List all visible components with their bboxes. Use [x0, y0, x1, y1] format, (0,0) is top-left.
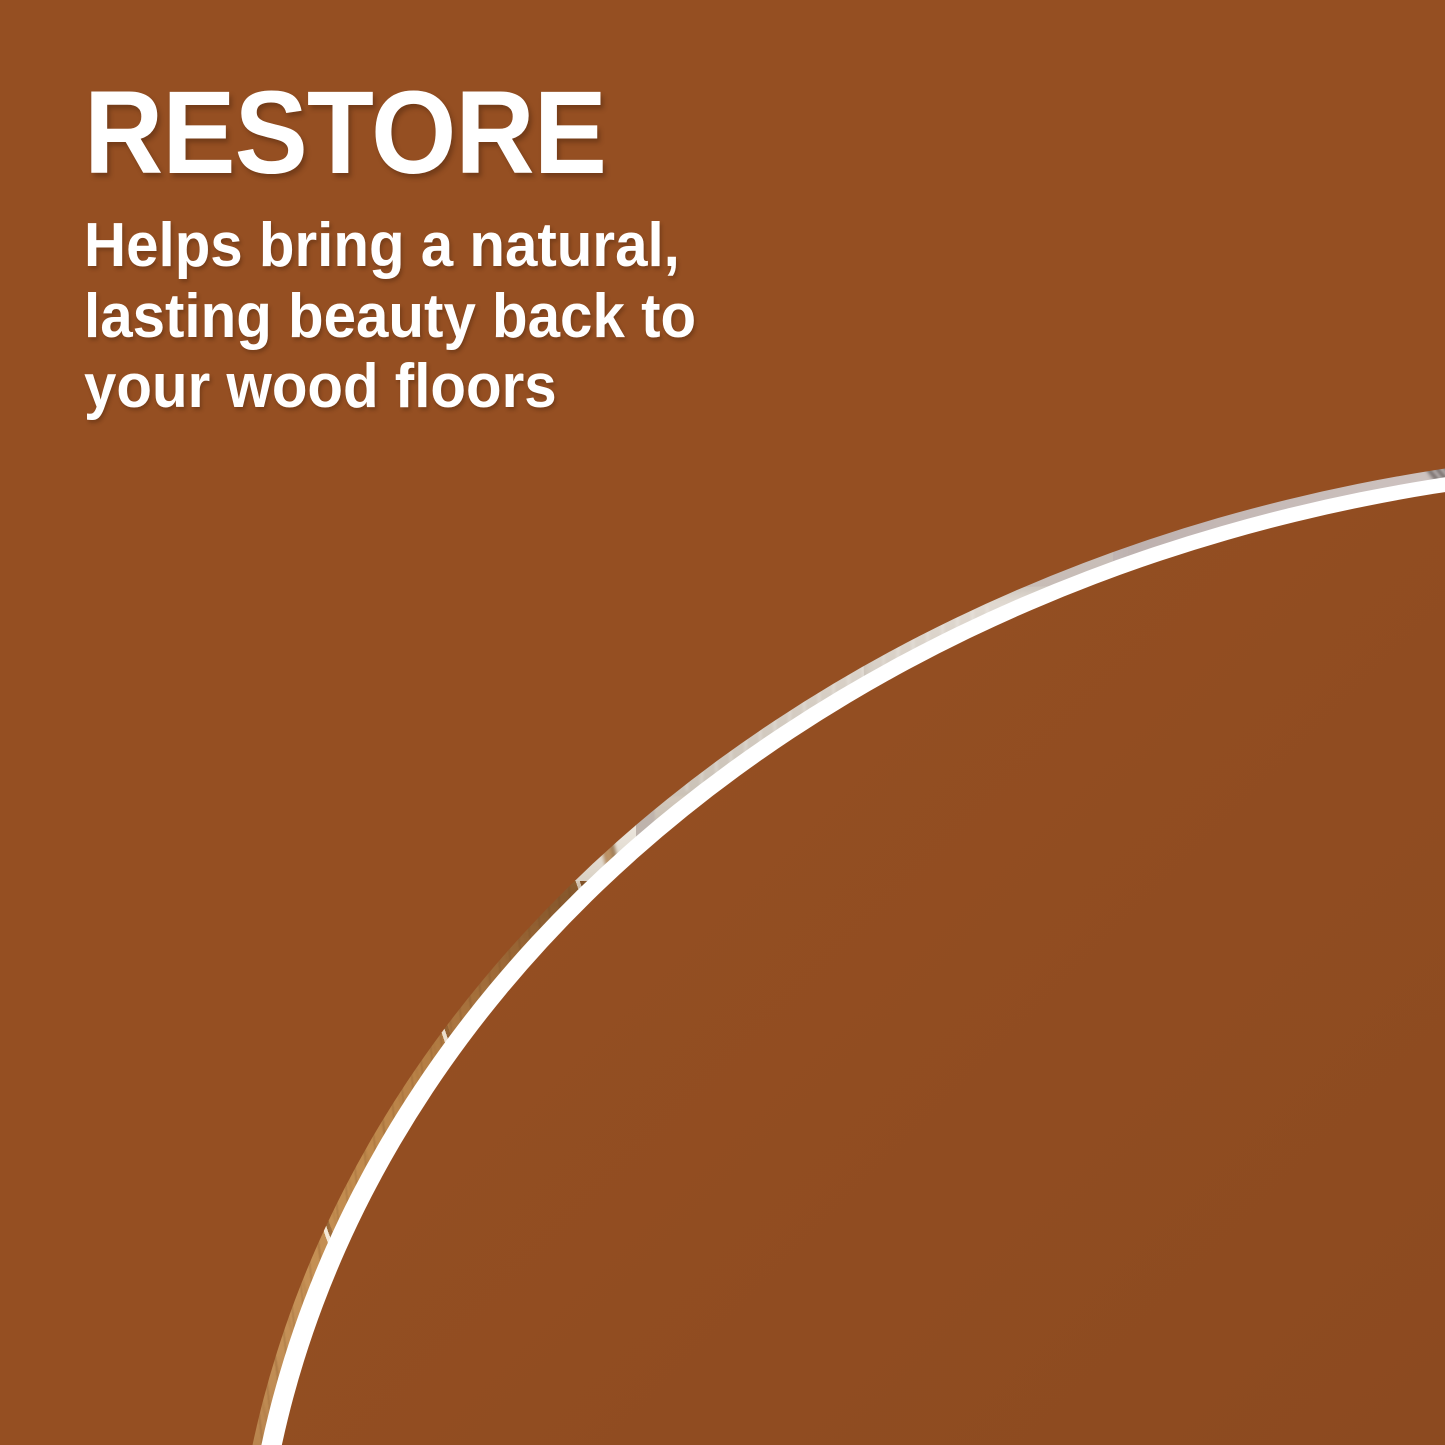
subheadline: Helps bring a natural, lasting beauty ba…: [84, 211, 855, 423]
brass-lamp-icon: [961, 260, 1010, 433]
ad-copy: RESTORE Helps bring a natural, lasting b…: [84, 78, 904, 423]
subheadline-line: your wood floors: [84, 352, 855, 423]
subheadline-line: lasting beauty back to: [84, 282, 855, 353]
stool-object: [465, 564, 608, 604]
stool-leg: [430, 634, 490, 980]
stool-top: [443, 586, 685, 651]
blue-pillow: [1203, 388, 1328, 493]
ad-banner: RESTORE Helps bring a natural, lasting b…: [0, 0, 1445, 1445]
sofa-arm-top: [623, 413, 878, 560]
page-title: RESTORE: [84, 78, 847, 189]
knit-throw-blanket: [1392, 230, 1445, 508]
subheadline-line: Helps bring a natural,: [84, 211, 855, 282]
window-greenery: [260, 419, 361, 564]
